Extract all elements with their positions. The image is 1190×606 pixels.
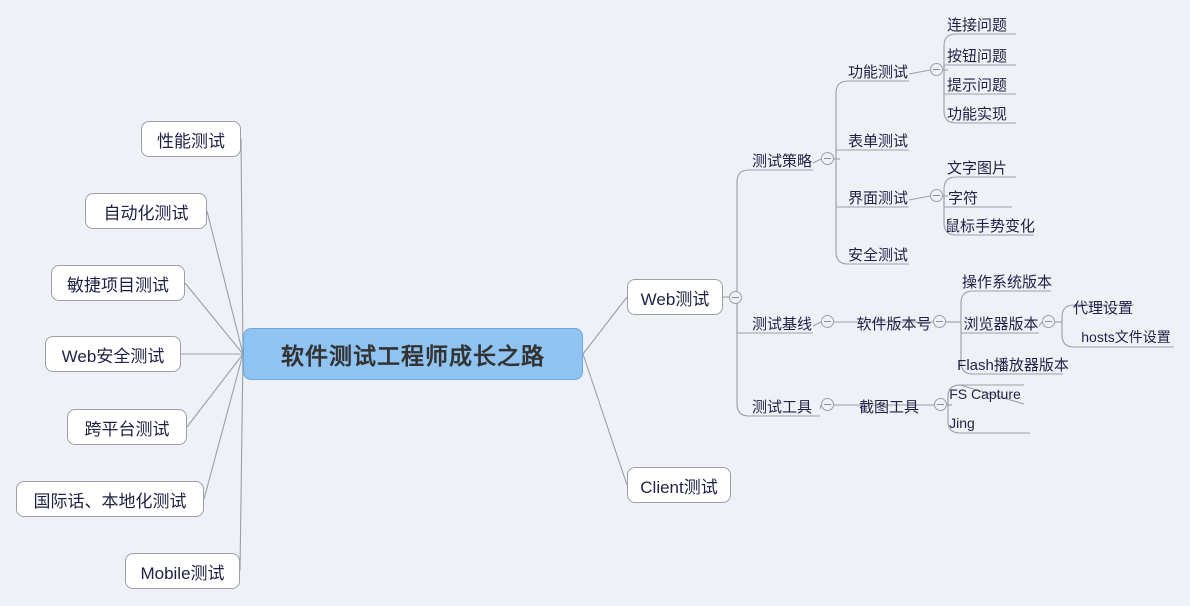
node-security-test[interactable]: 安全测试 (847, 242, 909, 266)
collapse-minus-icon-test-strategy[interactable] (821, 152, 834, 165)
node-mouse-gesture-change[interactable]: 鼠标手势变化 (946, 213, 1034, 237)
node-label: 敏捷项目测试 (67, 271, 169, 296)
node-label: 测试基线 (752, 313, 812, 334)
node-label: FS Capture (949, 386, 1021, 402)
node-software-version[interactable]: 软件版本号 (855, 311, 933, 335)
collapse-minus-icon-browser-version[interactable] (1042, 315, 1055, 328)
node-label: 功能实现 (947, 103, 1007, 124)
node-functional-test[interactable]: 功能测试 (847, 59, 909, 83)
collapse-minus-icon-test-tools[interactable] (821, 398, 834, 411)
branch-node-web-test[interactable]: Web测试 (627, 279, 723, 315)
node-label: 测试策略 (752, 150, 812, 171)
node-character[interactable]: 字符 (946, 185, 980, 209)
root-label: 软件测试工程师成长之路 (281, 337, 545, 371)
root-node[interactable]: 软件测试工程师成长之路 (243, 328, 583, 380)
node-label: 表单测试 (848, 130, 908, 151)
branch-node-agile[interactable]: 敏捷项目测试 (51, 265, 185, 301)
node-label: 安全测试 (848, 244, 908, 265)
node-feature-implementation[interactable]: 功能实现 (946, 101, 1008, 125)
collapse-minus-icon-test-baseline[interactable] (821, 315, 834, 328)
node-text-image[interactable]: 文字图片 (946, 155, 1008, 179)
node-label: Mobile测试 (140, 559, 224, 584)
node-label: 按钮问题 (947, 45, 1007, 66)
collapse-minus-icon-software-version[interactable] (933, 315, 946, 328)
branch-node-mobile[interactable]: Mobile测试 (125, 553, 240, 589)
node-label: 自动化测试 (104, 199, 189, 224)
node-label: 连接问题 (947, 14, 1007, 35)
node-label: 国际话、本地化测试 (34, 487, 187, 512)
branch-node-automation[interactable]: 自动化测试 (85, 193, 207, 229)
node-label: 测试工具 (752, 396, 812, 417)
branch-node-performance[interactable]: 性能测试 (141, 121, 241, 157)
mindmap-canvas: 软件测试工程师成长之路 性能测试 自动化测试 敏捷项目测试 Web安全测试 跨平… (0, 0, 1190, 606)
node-label: 跨平台测试 (85, 415, 170, 440)
node-connection-issue[interactable]: 连接问题 (946, 12, 1008, 36)
node-label: Jing (949, 415, 975, 431)
node-label: 鼠标手势变化 (945, 215, 1035, 236)
node-label: 代理设置 (1073, 297, 1133, 318)
branch-node-i18n-l10n[interactable]: 国际话、本地化测试 (16, 481, 204, 517)
node-flash-player-version[interactable]: Flash播放器版本 (963, 352, 1063, 376)
node-browser-version[interactable]: 浏览器版本 (963, 311, 1039, 335)
node-label: Flash播放器版本 (957, 354, 1069, 375)
node-label: Client测试 (640, 473, 717, 498)
node-label: 性能测试 (157, 127, 225, 152)
branch-node-client-test[interactable]: Client测试 (627, 467, 731, 503)
node-label: 浏览器版本 (964, 313, 1039, 334)
node-label: 软件版本号 (857, 313, 932, 334)
node-button-issue[interactable]: 按钮问题 (946, 43, 1008, 67)
node-form-test[interactable]: 表单测试 (847, 128, 909, 152)
node-label: Web安全测试 (62, 342, 165, 367)
node-label: 功能测试 (848, 61, 908, 82)
collapse-minus-icon-ui-test[interactable] (930, 189, 943, 202)
node-label: 截图工具 (859, 396, 919, 417)
node-label: 操作系统版本 (962, 271, 1052, 292)
node-label: 提示问题 (947, 74, 1007, 95)
node-test-tools[interactable]: 测试工具 (751, 394, 813, 418)
node-ui-test[interactable]: 界面测试 (847, 185, 909, 209)
node-label: 界面测试 (848, 187, 908, 208)
node-label: 文字图片 (947, 157, 1007, 178)
node-label: hosts文件设置 (1081, 327, 1170, 347)
node-fs-capture[interactable]: FS Capture (946, 382, 1024, 406)
node-label: Web测试 (641, 285, 710, 310)
node-screenshot-tool[interactable]: 截图工具 (858, 394, 920, 418)
collapse-minus-icon-web-test[interactable] (729, 291, 742, 304)
branch-node-cross-platform[interactable]: 跨平台测试 (67, 409, 187, 445)
node-hosts-file-settings[interactable]: hosts文件设置 (1078, 325, 1174, 349)
node-test-baseline[interactable]: 测试基线 (751, 311, 813, 335)
branch-node-web-security[interactable]: Web安全测试 (45, 336, 181, 372)
node-proxy-settings[interactable]: 代理设置 (1072, 295, 1134, 319)
collapse-minus-icon-functional-test[interactable] (930, 63, 943, 76)
node-prompt-issue[interactable]: 提示问题 (946, 72, 1008, 96)
node-label: 字符 (948, 187, 978, 208)
node-jing[interactable]: Jing (946, 411, 978, 435)
node-os-version[interactable]: 操作系统版本 (963, 269, 1051, 293)
node-test-strategy[interactable]: 测试策略 (751, 148, 813, 172)
